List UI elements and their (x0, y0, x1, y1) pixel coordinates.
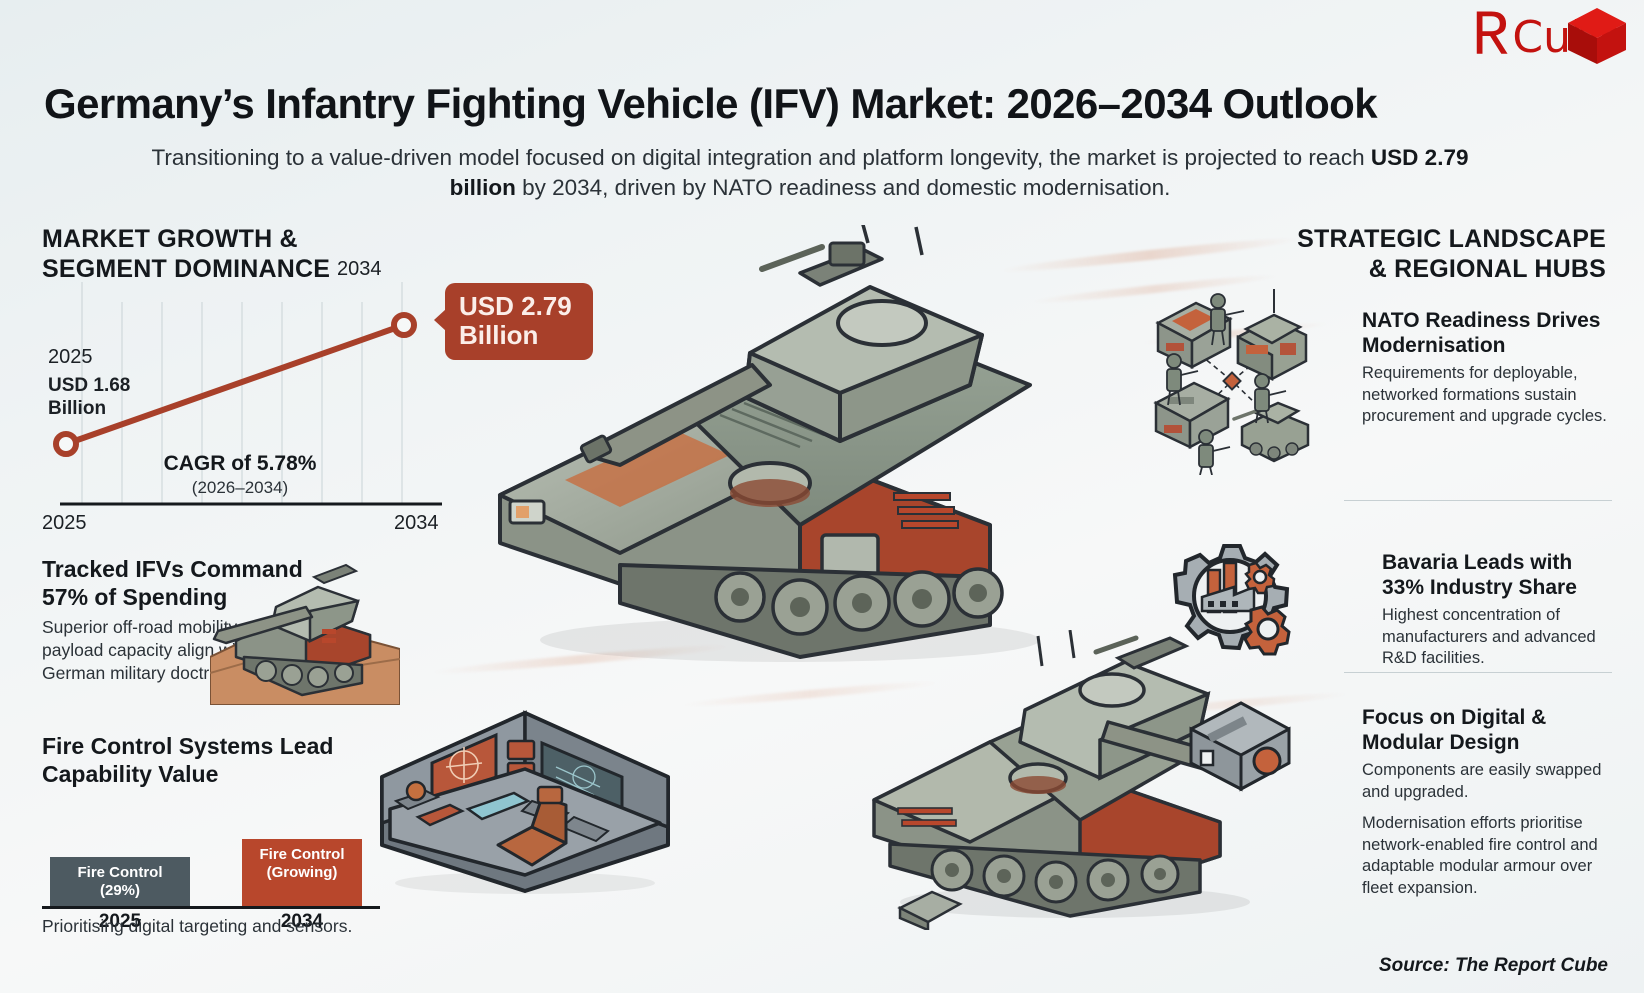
right-feature-digital: Focus on Digital & Modular Design Compon… (1362, 705, 1612, 899)
chart-cagr-annotation: CAGR of 5.78% (2026–2034) (120, 452, 360, 498)
modular-components-icon (1185, 685, 1295, 805)
market-growth-line-chart: 2034 2025 USD 1.68 Billion CAGR of 5.78%… (42, 262, 462, 522)
supply-crate-icon (1156, 383, 1228, 447)
page-subtitle: Transitioning to a value-driven model fo… (150, 143, 1470, 202)
main-ifv-illustration (470, 225, 1090, 675)
chart-point-2034 (394, 315, 414, 335)
right-feature-bavaria: Bavaria Leads with 33% Industry Share Hi… (1382, 550, 1612, 670)
mini-tank-icon (1234, 403, 1308, 461)
logo-ya-mark: Я (1471, 8, 1511, 61)
desert-tank-illustration (210, 545, 400, 705)
subtitle-part-1: Transitioning to a value-driven model fo… (152, 145, 1371, 170)
chart-axis-label-right: 2034 (394, 512, 439, 535)
infographic-canvas: Я Cube Germany’s Infantry Fighting Vehic… (0, 0, 1644, 993)
factory-gear-icon (1168, 525, 1313, 665)
bar-2034: Fire Control (Growing) (242, 839, 362, 907)
chart-axis-label-left: 2025 (42, 512, 87, 535)
bar-2025: Fire Control (29%) (50, 857, 190, 907)
right-heading-line-2: & REGIONAL HUBS (1186, 255, 1606, 285)
subtitle-part-2: by 2034, driven by NATO readiness and do… (516, 175, 1171, 200)
source-attribution: Source: The Report Cube (1379, 955, 1608, 977)
fire-control-bar-chart: Fire Control (29%) Fire Control (Growing… (42, 800, 382, 935)
right-feature-digital-body: Components are easily swapped and upgrad… (1362, 760, 1612, 803)
network-nodes-icon (1150, 285, 1315, 475)
soldier-icon (1199, 430, 1230, 475)
fire-control-cockpit-illustration (370, 705, 680, 895)
right-divider (1344, 672, 1612, 673)
right-feature-nato-title: NATO Readiness Drives Modernisation (1362, 308, 1612, 358)
feature-fire-title: Fire Control Systems Lead Capability Val… (42, 733, 372, 788)
feature-fire-control: Fire Control Systems Lead Capability Val… (42, 733, 372, 788)
cube-3d-icon (1564, 6, 1630, 68)
cagr-range: (2026–2034) (120, 478, 360, 498)
right-divider (1344, 500, 1612, 501)
left-heading-line-1: MARKET GROWTH & (42, 225, 442, 255)
right-feature-nato: NATO Readiness Drives Modernisation Requ… (1362, 308, 1612, 428)
right-feature-nato-body: Requirements for deployable, networked f… (1362, 363, 1612, 427)
sensor-module-icon (1191, 703, 1289, 789)
chart-point-2025 (56, 434, 76, 454)
chart-label-end-year: 2034 (337, 258, 382, 281)
right-feature-digital-body-2: Modernisation efforts prioritise network… (1362, 813, 1612, 899)
chart-label-start-value: USD 1.68 Billion (48, 374, 168, 420)
brand-logo[interactable]: Я Cube (1471, 8, 1626, 61)
right-section-heading: STRATEGIC LANDSCAPE & REGIONAL HUBS (1186, 225, 1606, 284)
fire-control-caption: Prioritising digital targeting and senso… (42, 916, 442, 937)
right-feature-bavaria-title: Bavaria Leads with 33% Industry Share (1382, 550, 1612, 600)
command-vehicle-icon (1238, 289, 1306, 379)
right-feature-bavaria-body: Highest concentration of manufacturers a… (1382, 605, 1612, 669)
page-title: Germany’s Infantry Fighting Vehicle (IFV… (44, 80, 1334, 128)
cagr-value: CAGR of 5.78% (120, 452, 360, 476)
right-feature-digital-title: Focus on Digital & Modular Design (1362, 705, 1612, 755)
bar-chart-baseline (42, 906, 380, 909)
chart-label-start-year: 2025 (48, 346, 93, 369)
right-heading-line-1: STRATEGIC LANDSCAPE (1186, 225, 1606, 255)
